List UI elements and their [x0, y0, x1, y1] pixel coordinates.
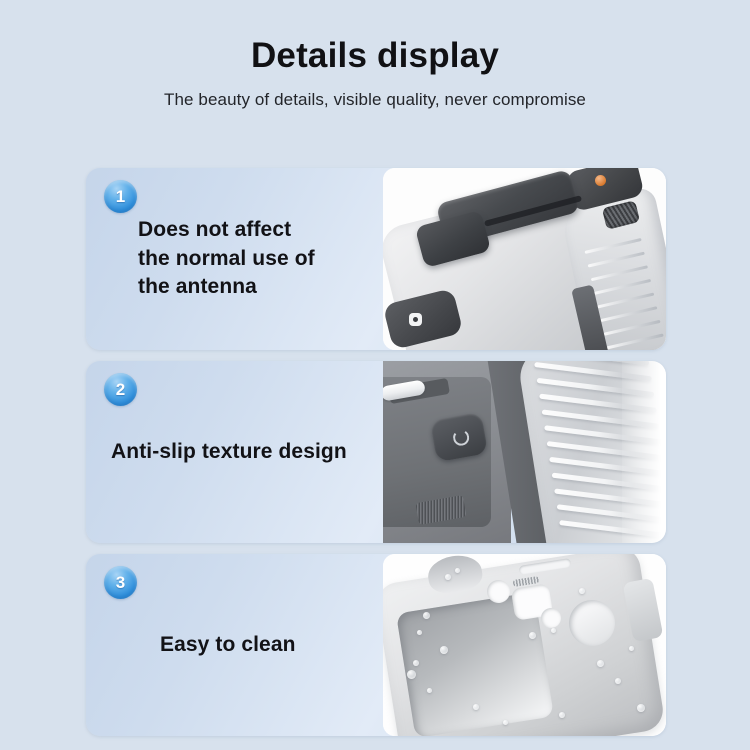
page-title: Details display	[0, 36, 750, 76]
page-header: Details display The beauty of details, v…	[0, 0, 750, 110]
step-badge-number: 1	[116, 188, 125, 205]
feature-card-text: 2 Anti-slip texture design	[86, 361, 383, 543]
step-badge: 1	[104, 180, 137, 213]
water-droplet	[445, 574, 451, 580]
feature-card-label: Easy to clean	[86, 631, 296, 660]
water-droplet	[629, 646, 634, 651]
water-droplet	[427, 688, 432, 693]
water-droplet	[579, 588, 585, 594]
water-droplet	[455, 568, 460, 573]
feature-card: 2 Anti-slip texture design	[86, 361, 666, 543]
water-droplet	[503, 720, 508, 725]
water-droplet	[417, 630, 422, 635]
step-badge-number: 2	[116, 381, 125, 398]
product-photo-texture	[383, 361, 666, 543]
photo-edge-highlight	[622, 361, 666, 543]
feature-card-label: Does not affectthe normal use ofthe ante…	[86, 216, 315, 302]
page-subtitle: The beauty of details, visible quality, …	[0, 90, 750, 110]
product-photo-case	[383, 554, 666, 736]
feature-card-photo	[383, 168, 666, 350]
orange-indicator-dot	[595, 175, 606, 186]
feature-card-text: 1 Does not affectthe normal use ofthe an…	[86, 168, 383, 350]
feature-card-text: 3 Easy to clean	[86, 554, 383, 736]
water-droplet	[559, 712, 565, 718]
product-photo-antenna	[383, 168, 666, 350]
step-badge-number: 3	[116, 574, 125, 591]
feature-card: 3 Easy to clean	[86, 554, 666, 736]
water-droplet	[551, 628, 556, 633]
feature-card: 1 Does not affectthe normal use ofthe an…	[86, 168, 666, 350]
water-droplet	[637, 704, 645, 712]
water-droplet	[407, 670, 416, 679]
control-stick-socket	[409, 313, 422, 326]
water-droplet	[597, 660, 604, 667]
step-badge: 3	[104, 566, 137, 599]
water-droplet	[423, 612, 430, 619]
step-badge: 2	[104, 373, 137, 406]
feature-card-list: 1 Does not affectthe normal use ofthe an…	[86, 168, 666, 747]
water-droplet	[615, 678, 621, 684]
feature-card-photo	[383, 361, 666, 543]
water-droplet	[473, 704, 479, 710]
water-droplet	[413, 660, 419, 666]
water-droplet	[440, 646, 448, 654]
feature-card-photo	[383, 554, 666, 736]
product-detail-page: Details display The beauty of details, v…	[0, 0, 750, 750]
feature-card-label: Anti-slip texture design	[86, 438, 347, 467]
water-droplet	[529, 632, 536, 639]
